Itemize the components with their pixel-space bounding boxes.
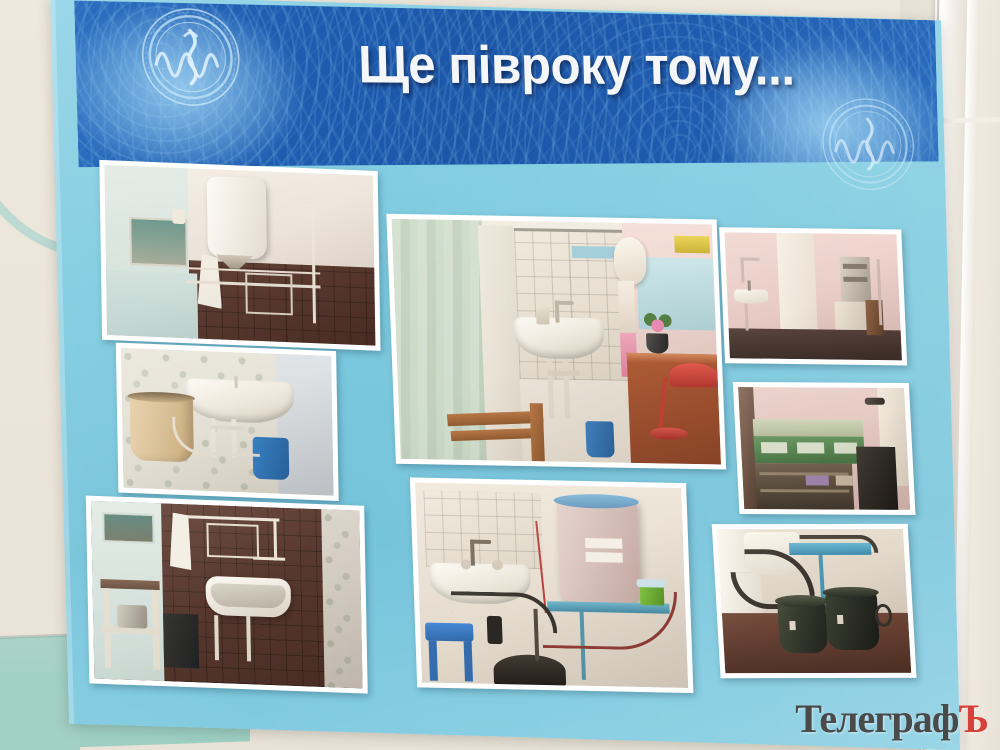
board-photo-1[interactable] (99, 160, 380, 351)
board-photo-6[interactable] (719, 227, 907, 365)
watermark-hard-sign: Ъ (958, 696, 988, 741)
water-utility-emblem-icon-right (819, 95, 918, 194)
board-photo-3[interactable] (86, 496, 368, 694)
board-photo-2[interactable] (116, 343, 339, 501)
water-utility-emblem-icon (138, 5, 243, 110)
board-photo-5[interactable] (410, 477, 694, 693)
board-photo-8[interactable] (712, 524, 917, 678)
information-board[interactable]: Ще півроку тому... (50, 0, 960, 750)
scene-photograph: Ще півроку тому... (0, 0, 1000, 750)
watermark-text: Телеграф (795, 696, 958, 741)
board-photo-7[interactable] (733, 382, 916, 515)
watermark: ТелеграфЪ (795, 695, 988, 742)
banner-title: Ще півроку тому... (358, 34, 797, 97)
board-photo-4[interactable] (386, 214, 726, 470)
